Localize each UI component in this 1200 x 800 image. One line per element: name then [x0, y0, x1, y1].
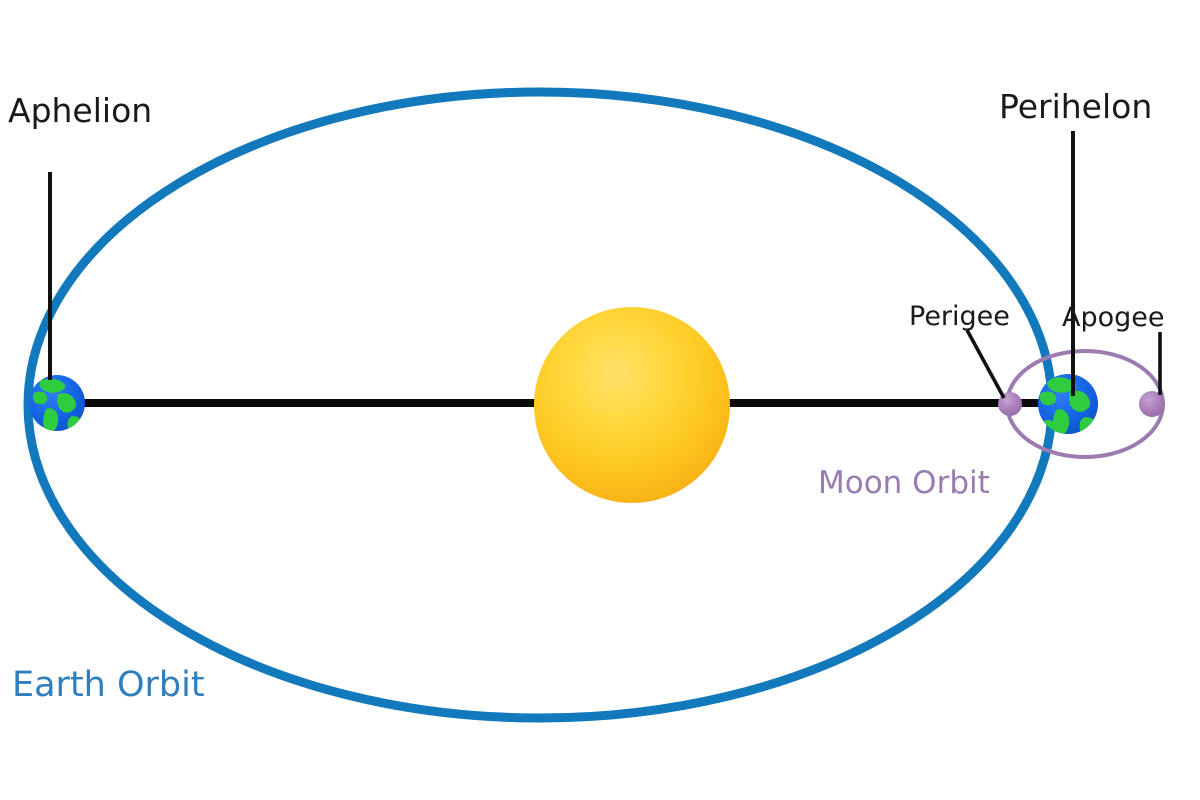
- moon-orbit-label: Moon Orbit: [818, 465, 990, 501]
- diagram-canvas: Aphelion Perihelon Perigee Apogee Earth …: [0, 0, 1200, 800]
- perigee-label: Perigee: [909, 301, 1010, 332]
- earth-aphelion-body: [29, 375, 85, 434]
- apogee-label: Apogee: [1062, 302, 1165, 333]
- perigee-leader-line: [967, 330, 1004, 398]
- sun-body: [534, 307, 730, 503]
- aphelion-label: Aphelion: [8, 91, 152, 130]
- earth-orbit-label: Earth Orbit: [12, 665, 205, 705]
- perihelion-label: Perihelon: [999, 87, 1152, 126]
- orbit-diagram: Aphelion Perihelon Perigee Apogee Earth …: [0, 0, 1200, 800]
